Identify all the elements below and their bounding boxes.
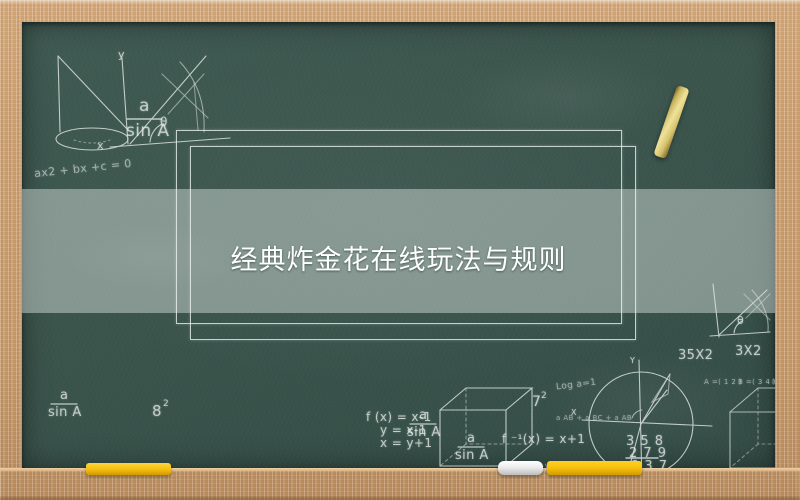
chalk-matrix-b: B =( 3 4 ) <box>738 378 775 386</box>
yellow-chalk-stick-left <box>86 463 171 475</box>
chalk-fraction-a-left: a <box>60 388 68 403</box>
chalk-side-note-ab: a AB + a BC + a AB <box>556 414 632 422</box>
chalk-times-35x2: 35X2 <box>678 348 713 363</box>
chalk-axis-label-y: y <box>118 48 125 61</box>
chalk-power-eight-exponent: 2 <box>163 399 169 409</box>
decorative-frame-inner <box>190 146 636 340</box>
chalk-fraction-a-mid2: a <box>467 431 475 446</box>
chalk-fraction-sina-left: sin A <box>48 405 82 420</box>
chalk-axis-label-x-right: X <box>571 408 577 417</box>
chalk-axis-label-y-right: Y <box>630 356 635 365</box>
chalk-fraction-a-mid: a <box>419 408 427 423</box>
chalk-fraction-sina-mid2: sin A <box>455 448 489 463</box>
white-chalk-stick <box>498 461 543 475</box>
frame-highlight-top <box>0 0 800 4</box>
chalk-matrix-a: A =( 1 2 ) <box>704 378 742 386</box>
chalk-angle-theta-right: θ <box>737 314 744 327</box>
screenshot-root: a sin A y x θ ax2 + bx +c = 0 θ f (x) = … <box>0 0 800 500</box>
chalkboard: a sin A y x θ ax2 + bx +c = 0 θ f (x) = … <box>22 22 775 468</box>
yellow-chalk-stick <box>547 461 642 475</box>
chalk-matrix-i: I =( 1 0 ) <box>772 378 775 386</box>
chalk-times-3x2: 3X2 <box>735 344 762 359</box>
chalk-power-seven: 7 <box>532 394 541 410</box>
chalk-axis-label-x: x <box>97 139 104 152</box>
chalk-inverse-function: f ⁻¹(x) = x+1 <box>502 432 585 446</box>
chalk-angle-theta: θ <box>160 115 168 129</box>
chalk-power-seven-exponent: 2 <box>541 391 547 401</box>
chalk-fraction-sina-mid: sin A <box>407 425 441 440</box>
chalk-fraction-numerator-a: a <box>139 96 150 116</box>
chalk-power-eight: 8 <box>152 402 162 420</box>
page-title: 经典炸金花在线玩法与规则 <box>22 244 775 278</box>
